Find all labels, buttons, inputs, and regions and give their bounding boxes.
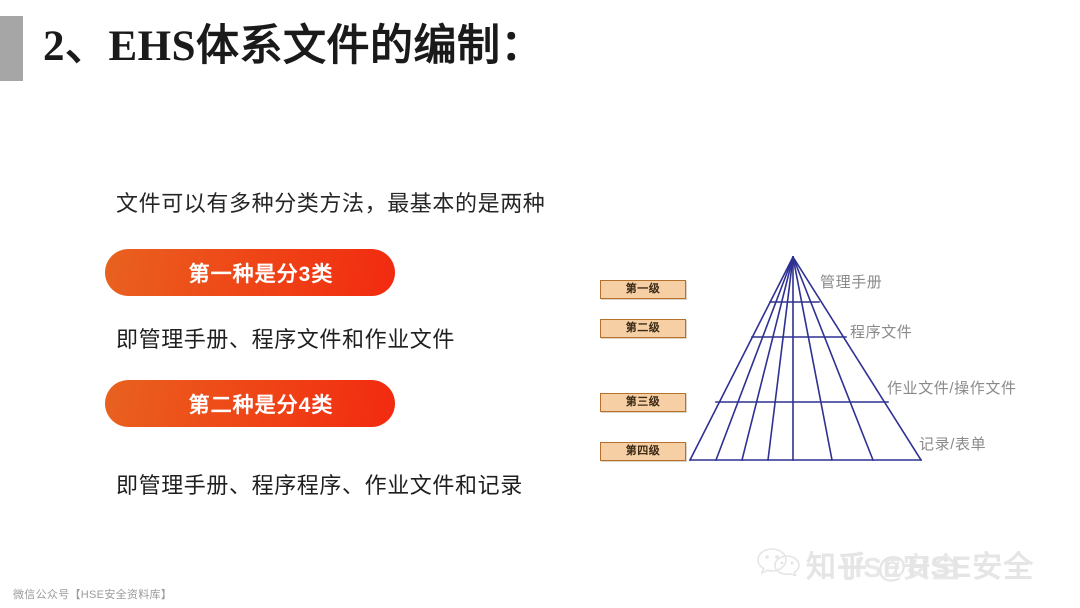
level-box-first: 第一级	[600, 280, 686, 299]
option-pill-three-categories-label: 第一种是分3类	[105, 258, 395, 288]
page-title: 2、EHS体系文件的编制：	[43, 16, 943, 78]
intro-text: 文件可以有多种分类方法，最基本的是两种	[116, 186, 545, 218]
level-box-first-label: 第一级	[601, 281, 685, 298]
title-accent-bar	[0, 16, 23, 81]
level-box-fourth: 第四级	[600, 442, 686, 461]
tier-label-records-forms: 记录/表单	[919, 433, 986, 454]
tier-label-work-instructions: 作业文件/操作文件	[887, 377, 1017, 398]
corner-watermark-primary-text: 知乎 @HSE安全	[806, 542, 1034, 586]
option-pill-four-categories-label: 第二种是分4类	[105, 389, 395, 419]
document-hierarchy-pyramid-diagram: 第一级 第二级 第三级 第四级 管理手册 程序文件 作业文件/操作文件 记录/表…	[592, 245, 1040, 477]
corner-watermark: HSE安全 知乎 @HSE安全	[756, 534, 1076, 590]
level-box-third: 第三级	[600, 393, 686, 412]
tier-label-procedure-documents: 程序文件	[850, 321, 912, 342]
wechat-bubble-icon	[756, 546, 802, 576]
level-box-fourth-label: 第四级	[601, 443, 685, 460]
option-detail-four-categories: 即管理手册、程序程序、作业文件和记录	[116, 468, 523, 500]
slide-canvas: 2、EHS体系文件的编制： 文件可以有多种分类方法，最基本的是两种 第一种是分3…	[0, 0, 1080, 608]
footer-watermark: 微信公众号【HSE安全资料库】	[13, 586, 172, 602]
option-detail-three-categories: 即管理手册、程序文件和作业文件	[116, 322, 455, 354]
option-pill-four-categories[interactable]: 第二种是分4类	[105, 380, 395, 427]
level-box-second-label: 第二级	[601, 320, 685, 337]
tier-label-management-manual: 管理手册	[820, 271, 882, 292]
level-box-second: 第二级	[600, 319, 686, 338]
option-pill-three-categories[interactable]: 第一种是分3类	[105, 249, 395, 296]
level-box-third-label: 第三级	[601, 394, 685, 411]
